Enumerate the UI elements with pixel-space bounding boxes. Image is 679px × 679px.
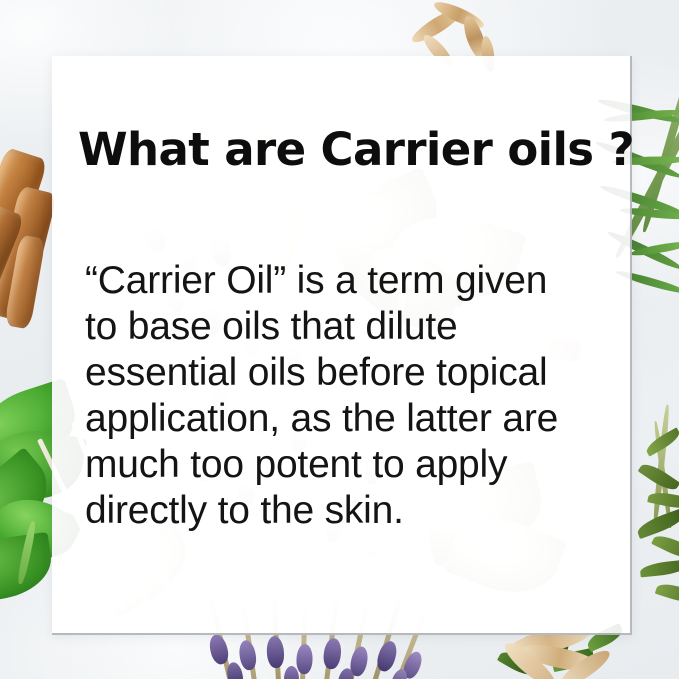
body-line: directly to the skin. — [85, 488, 625, 534]
page-title: What are Carrier oils ? — [78, 126, 634, 173]
body-paragraph: “Carrier Oil” is a term given to base oi… — [85, 258, 625, 534]
body-line: “Carrier Oil” is a term given — [85, 258, 625, 304]
body-line: essential oils before topical — [85, 350, 625, 396]
text-layer: What are Carrier oils ? “Carrier Oil” is… — [52, 56, 630, 633]
body-line: application, as the latter are — [85, 396, 625, 442]
infographic-canvas: What are Carrier oils ? “Carrier Oil” is… — [0, 0, 679, 679]
body-line: to base oils that dilute — [85, 304, 625, 350]
body-line: much too potent to apply — [85, 442, 625, 488]
